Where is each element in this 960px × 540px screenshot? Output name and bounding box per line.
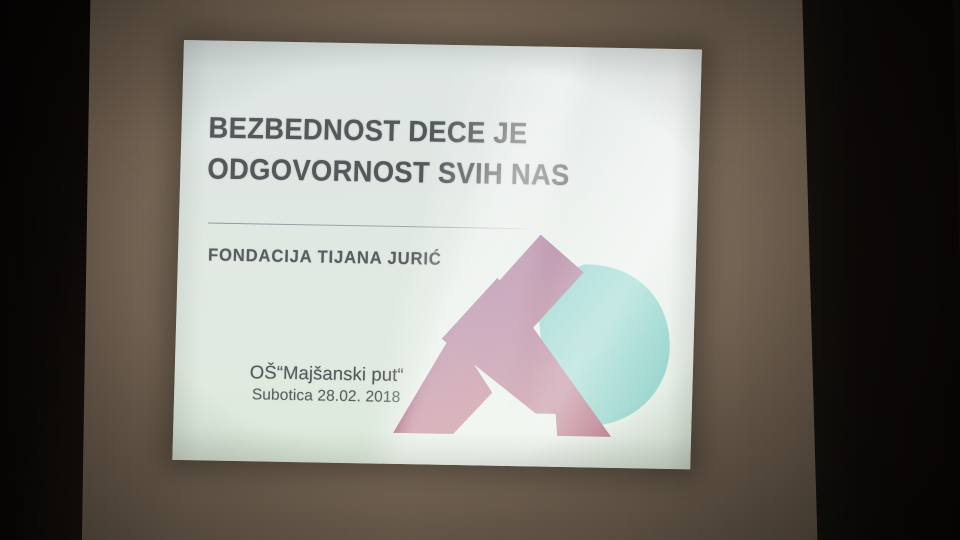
venue-place-date: Subotica 28.02. 2018 xyxy=(231,386,421,407)
projector-room-photo: BEZBEDNOST DECE JE ODGOVORNOST SVIH NAS … xyxy=(0,0,960,540)
projected-slide: BEZBEDNOST DECE JE ODGOVORNOST SVIH NAS … xyxy=(172,40,702,469)
logo-purple-bar-middle xyxy=(439,277,615,437)
organization-name: FONDACIJA TIJANA JURIĆ xyxy=(208,244,442,269)
room-dark-right-band xyxy=(802,0,960,540)
title-divider-rule xyxy=(208,222,533,229)
venue-block: OŠ“Majšanski put“ Subotica 28.02. 2018 xyxy=(231,361,422,407)
logo-teal-shape xyxy=(531,263,672,427)
title-line-2: ODGOVORNOST SVIH NAS xyxy=(207,149,617,197)
slide-surface: BEZBEDNOST DECE JE ODGOVORNOST SVIH NAS … xyxy=(172,40,702,469)
venue-school-name: OŠ“Majšanski put“ xyxy=(231,361,422,386)
slide-title: BEZBEDNOST DECE JE ODGOVORNOST SVIH NAS xyxy=(207,108,649,197)
slide-content: BEZBEDNOST DECE JE ODGOVORNOST SVIH NAS … xyxy=(172,40,702,469)
logo-purple-bar-top xyxy=(485,234,585,335)
